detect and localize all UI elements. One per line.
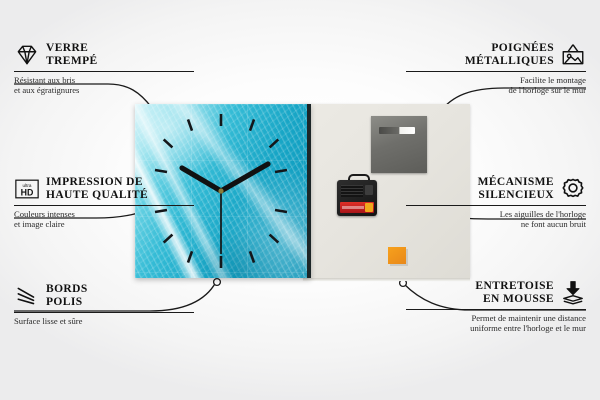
ultra-hd-icon-large-label: HD	[21, 188, 34, 198]
feature-title-line2: HAUTE QUALITÉ	[46, 189, 148, 202]
feature-divider	[14, 205, 194, 206]
feature-desc-line1: Facilite le montage	[406, 75, 586, 85]
feature-title-line1: IMPRESSION DE	[46, 176, 148, 189]
feature-divider	[406, 205, 586, 206]
feature-title-line2: TREMPÉ	[46, 55, 98, 68]
feature-divider	[14, 312, 194, 313]
feature-title-line2: POLIS	[46, 296, 88, 309]
clock-hands	[182, 164, 268, 254]
feature-title-line1: ENTRETOISE	[475, 280, 554, 293]
feature-desc-line1: Les aiguilles de l'horloge	[406, 209, 586, 219]
mechanism-housing	[337, 180, 377, 216]
feature-poignees-metalliques[interactable]: POIGNÉES MÉTALLIQUES Facilite le montage…	[406, 42, 586, 96]
foam-spacer-pad	[388, 247, 406, 264]
feature-entretoise-en-mousse[interactable]: ENTRETOISE EN MOUSSE Permet de maintenir…	[406, 280, 586, 334]
feature-desc-line2: de l'horloge sur le mur	[406, 85, 586, 95]
feature-divider	[14, 71, 194, 72]
feature-verre-trempe[interactable]: VERRE TREMPÉ Résistant aux bris et aux é…	[14, 42, 194, 96]
feature-divider	[406, 309, 586, 310]
feature-impression-hd[interactable]: ultra HD IMPRESSION DE HAUTE QUALITÉ Cou…	[14, 176, 194, 230]
infographic-canvas: VERRE TREMPÉ Résistant aux bris et aux é…	[0, 0, 600, 400]
feature-title-line1: VERRE	[46, 42, 98, 55]
feature-title-line1: MÉCANISME	[478, 176, 554, 189]
feature-title-line2: SILENCIEUX	[478, 189, 554, 202]
clock-mechanism-box	[337, 174, 377, 216]
mechanism-vent	[341, 185, 363, 197]
diamond-icon	[14, 42, 40, 68]
feature-mecanisme-silencieux[interactable]: MÉCANISME SILENCIEUX Les aiguilles de l'…	[406, 176, 586, 230]
minute-hand	[221, 164, 268, 191]
feature-title-line1: BORDS	[46, 283, 88, 296]
hanger-keyhole-slot	[379, 127, 415, 134]
battery-label-band	[342, 206, 364, 209]
feature-desc-line2: et aux égratignures	[14, 85, 194, 95]
hands-center-cap	[218, 188, 223, 193]
feature-title-line2: EN MOUSSE	[475, 293, 554, 306]
feature-desc-line1: Résistant aux bris	[14, 75, 194, 85]
feature-desc-line2: ne font aucun bruit	[406, 219, 586, 229]
anchor-dot-bords	[214, 279, 221, 286]
feature-desc-line1: Couleurs intenses	[14, 209, 194, 219]
feature-desc-line1: Permet de maintenir une distance	[406, 313, 586, 323]
gear-icon	[560, 176, 586, 202]
feature-bords-polis[interactable]: BORDS POLIS Surface lisse et sûre	[14, 283, 194, 326]
metal-hanger-plate	[371, 116, 427, 173]
mechanism-knob	[365, 185, 373, 195]
aa-battery	[340, 202, 374, 213]
polished-edges-icon	[14, 283, 40, 309]
feature-desc-line2: et image claire	[14, 219, 194, 229]
feature-desc-line1: Surface lisse et sûre	[14, 316, 194, 326]
feature-divider	[406, 71, 586, 72]
ultra-hd-icon: ultra HD	[14, 176, 40, 202]
wall-mount-frame-icon	[560, 42, 586, 68]
battery-positive-terminal	[365, 203, 373, 212]
foam-spacer-arrow-icon	[560, 280, 586, 306]
feature-title-line2: MÉTALLIQUES	[465, 55, 554, 68]
feature-desc-line2: uniforme entre l'horloge et le mur	[406, 323, 586, 333]
feature-title-line1: POIGNÉES	[465, 42, 554, 55]
